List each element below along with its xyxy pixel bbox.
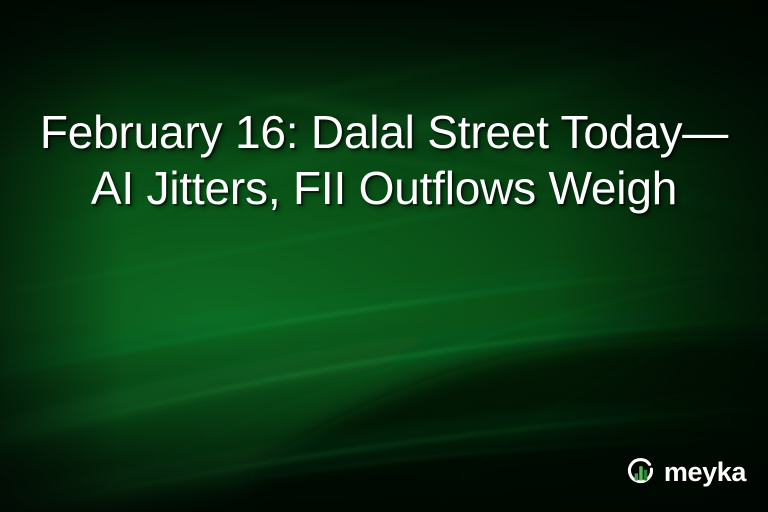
- page-title: February 16: Dalal Street Today—AI Jitte…: [28, 104, 740, 216]
- title-block: February 16: Dalal Street Today—AI Jitte…: [0, 104, 768, 216]
- brand-logo[interactable]: meyka: [625, 456, 746, 488]
- article-cover: February 16: Dalal Street Today—AI Jitte…: [0, 0, 768, 512]
- background-side-shade: [0, 0, 768, 512]
- brand-name: meyka: [664, 459, 746, 486]
- bar-chart-ring-icon: [625, 456, 657, 488]
